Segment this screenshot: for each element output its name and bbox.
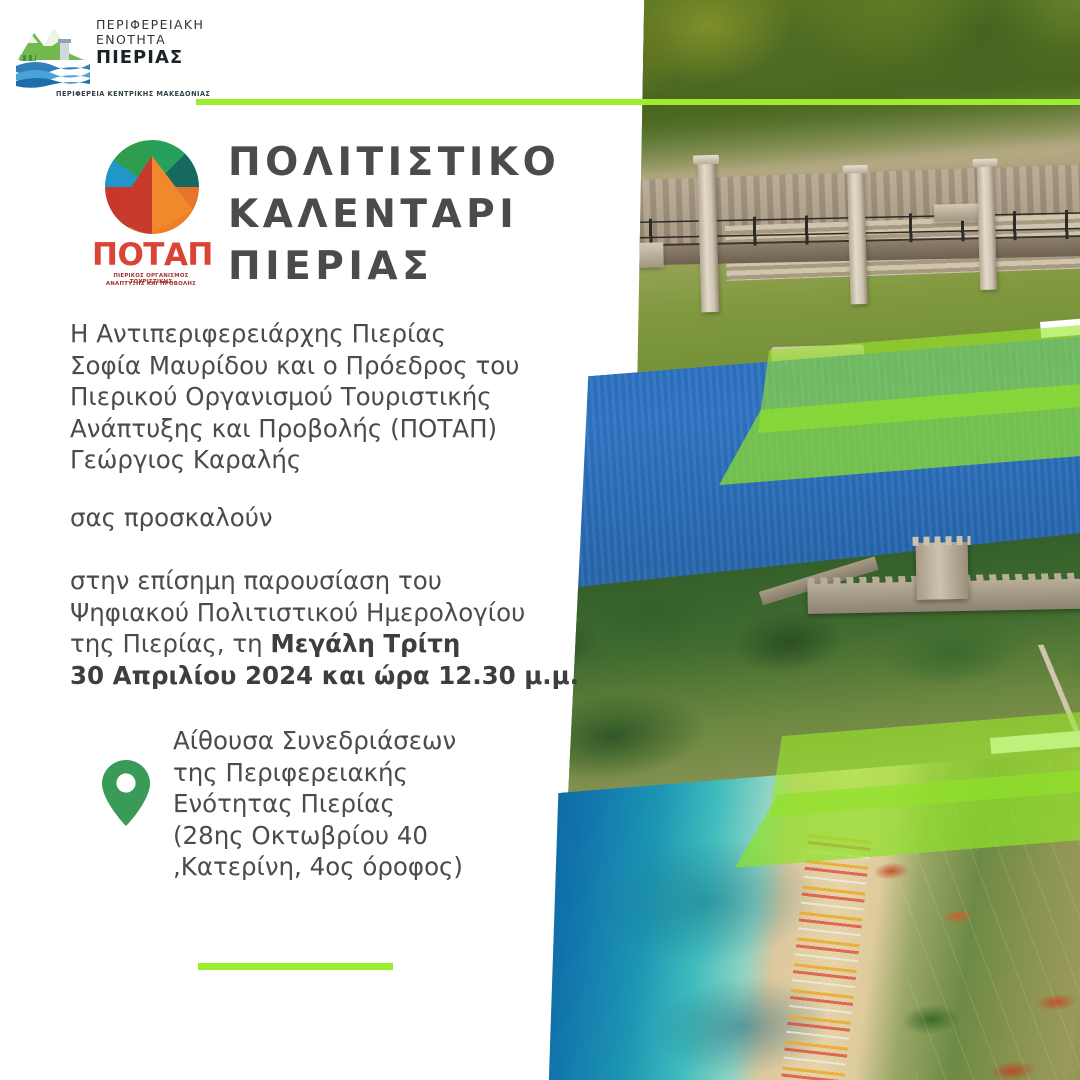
potap-subtitle-line2: ΑΝΑΠΤΥΞΗΣ ΚΑΙ ΠΡΟΒΟΛΗΣ (92, 281, 210, 287)
map-pin-icon (100, 758, 152, 828)
content-column: ΠΕΡΙΦΕΡΕΙΑΚΗ ΕΝΟΤΗΤΑ ΠΙΕΡΙΑΣ ΠΕΡΙΦΕΡΕΙΑ … (0, 0, 620, 1080)
intro-line-3: Πιερικού Οργανισμού Τουριστικής (70, 381, 590, 413)
regional-logo-line1: ΠΕΡΙΦΕΡΕΙΑΚΗ (96, 17, 204, 32)
regional-unit-wordmark: ΠΕΡΙΦΕΡΕΙΑΚΗ ΕΝΟΤΗΤΑ ΠΙΕΡΙΑΣ (96, 17, 204, 68)
location-line-5: ,Κατερίνη, 4ος όροφος) (173, 851, 573, 883)
footer-green-rule (198, 963, 393, 970)
castle-keep-tower (916, 542, 969, 600)
title-line-1: ΠΟΛΙΤΙΣΤΙΚΟ (228, 137, 598, 189)
intro-line-4: Ανάπτυξης και Προβολής (ΠΟΤΑΠ) (70, 413, 590, 445)
location-line-4: (28ης Οκτωβρίου 40 (173, 820, 573, 852)
event-datetime-bold: 30 Απριλίου 2024 και ώρα 12.30 μ.μ. (70, 660, 600, 692)
event-day-bold: Μεγάλη Τρίτη (270, 629, 460, 658)
invitation-paragraph: σας προσκαλούν (70, 502, 590, 534)
poster-canvas: ΠΕΡΙΦΕΡΕΙΑΚΗ ΕΝΟΤΗΤΑ ΠΙΕΡΙΑΣ ΠΕΡΙΦΕΡΕΙΑ … (0, 0, 1080, 1080)
intro-paragraph: Η Αντιπεριφερειάρχης Πιερίας Σοφία Μαυρί… (70, 318, 590, 476)
intro-line-2: Σοφία Μαυρίδου και ο Πρόεδρος του (70, 350, 590, 382)
event-line-3-text: της Πιερίας, τη (70, 629, 270, 658)
location-line-3: Ενότητας Πιερίας (173, 788, 573, 820)
header-green-rule (196, 99, 1080, 105)
event-line-3: της Πιερίας, τη Μεγάλη Τρίτη (70, 628, 600, 660)
mountain-wave-icon (14, 16, 92, 88)
location-address: Αίθουσα Συνεδριάσεων της Περιφερειακής Ε… (173, 725, 573, 883)
event-line-2: Ψηφιακού Πολιτιστικού Ημερολογίου (70, 597, 600, 629)
castle (807, 551, 1080, 621)
stone-block (934, 203, 984, 221)
location-line-1: Αίθουσα Συνεδριάσεων (173, 725, 573, 757)
title-line-3: ΠΙΕΡΙΑΣ (228, 241, 598, 293)
regional-unit-logo: ΠΕΡΙΦΕΡΕΙΑΚΗ ΕΝΟΤΗΤΑ ΠΙΕΡΙΑΣ ΠΕΡΙΦΕΡΕΙΑ … (14, 14, 199, 94)
event-details-paragraph: στην επίσημη παρουσίαση του Ψηφιακού Πολ… (70, 565, 600, 691)
intro-line-5: Γεώργιος Καραλής (70, 444, 590, 476)
potap-circle-icon (105, 140, 199, 234)
regional-logo-line3: ΠΙΕΡΙΑΣ (96, 47, 204, 68)
potap-wordmark: ΠΟΤΑΠ (92, 240, 210, 271)
regional-logo-subtitle: ΠΕΡΙΦΕΡΕΙΑ ΚΕΝΤΡΙΚΗΣ ΜΑΚΕΔΟΝΙΑΣ (56, 90, 210, 98)
title-line-2: ΚΑΛΕΝΤΑΡΙ (228, 189, 598, 241)
location-line-2: της Περιφερειακής (173, 757, 573, 789)
intro-line-1: Η Αντιπεριφερειάρχης Πιερίας (70, 318, 590, 350)
event-line-1: στην επίσημη παρουσίαση του (70, 565, 600, 597)
poster-title: ΠΟΛΙΤΙΣΤΙΚΟ ΚΑΛΕΝΤΑΡΙ ΠΙΕΡΙΑΣ (228, 137, 598, 293)
potap-logo: ΠΟΤΑΠ ΠΙΕΡΙΚΟΣ ΟΡΓΑΝΙΣΜΟΣ ΤΟΥΡΙΣΤΙΚΗΣ ΑΝ… (92, 140, 210, 288)
farm-fields (890, 743, 1080, 1080)
regional-logo-line2: ΕΝΟΤΗΤΑ (96, 32, 204, 47)
